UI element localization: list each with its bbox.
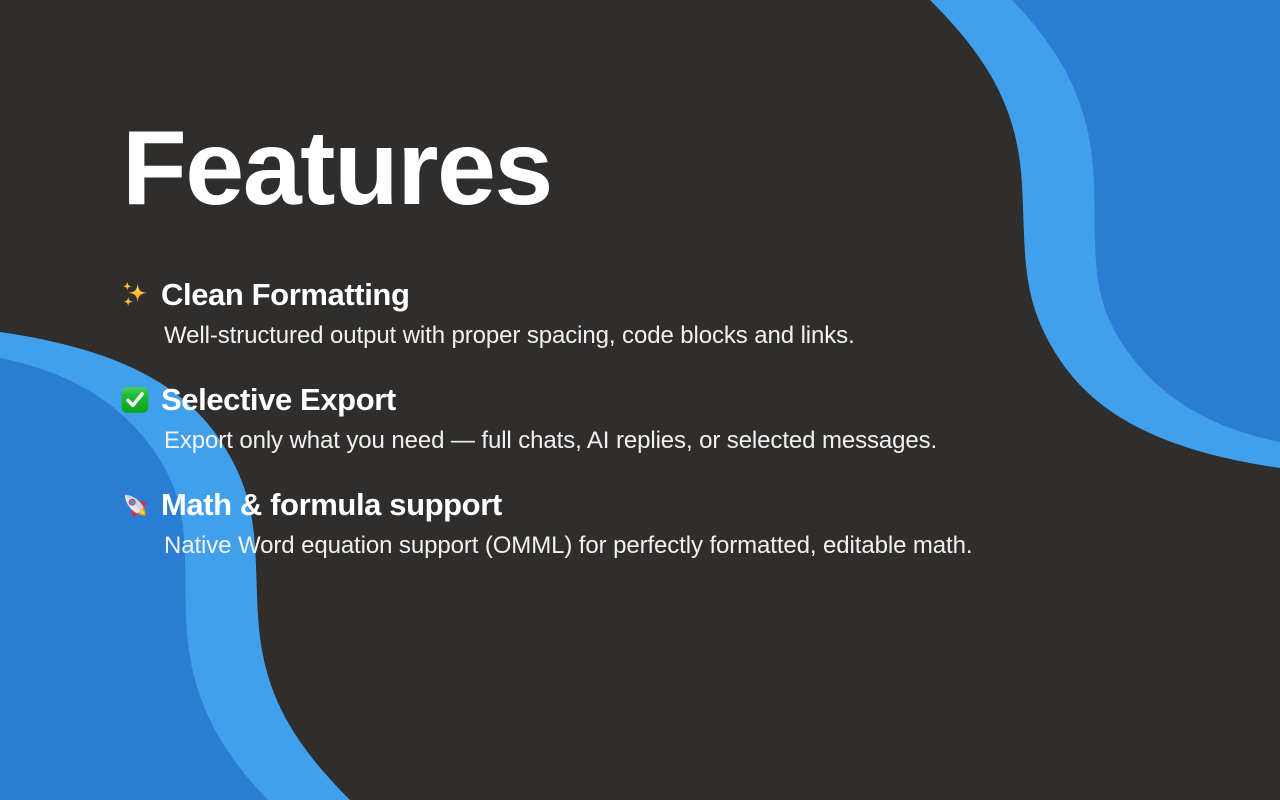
feature-heading: Clean Formatting bbox=[120, 274, 1180, 316]
page-title: Features bbox=[122, 115, 552, 221]
feature-item: Selective Export Export only what you ne… bbox=[120, 379, 1180, 455]
feature-title: Math & formula support bbox=[161, 487, 502, 523]
feature-description: Well-structured output with proper spaci… bbox=[164, 322, 1180, 350]
feature-title: Selective Export bbox=[161, 382, 396, 418]
feature-item: Math & formula support Native Word equat… bbox=[120, 484, 1180, 560]
feature-list: Clean Formatting Well-structured output … bbox=[120, 274, 1180, 560]
rocket-icon bbox=[120, 490, 150, 520]
slide-content: Features bbox=[0, 0, 1280, 800]
feature-heading: Math & formula support bbox=[120, 484, 1180, 526]
feature-item: Clean Formatting Well-structured output … bbox=[120, 274, 1180, 350]
feature-title: Clean Formatting bbox=[161, 277, 410, 313]
feature-heading: Selective Export bbox=[120, 379, 1180, 421]
feature-description: Native Word equation support (OMML) for … bbox=[164, 532, 1180, 560]
feature-description: Export only what you need — full chats, … bbox=[164, 427, 1180, 455]
check-mark-button-icon bbox=[120, 385, 150, 415]
sparkles-icon bbox=[120, 280, 150, 310]
slide-canvas: Features bbox=[0, 0, 1280, 800]
